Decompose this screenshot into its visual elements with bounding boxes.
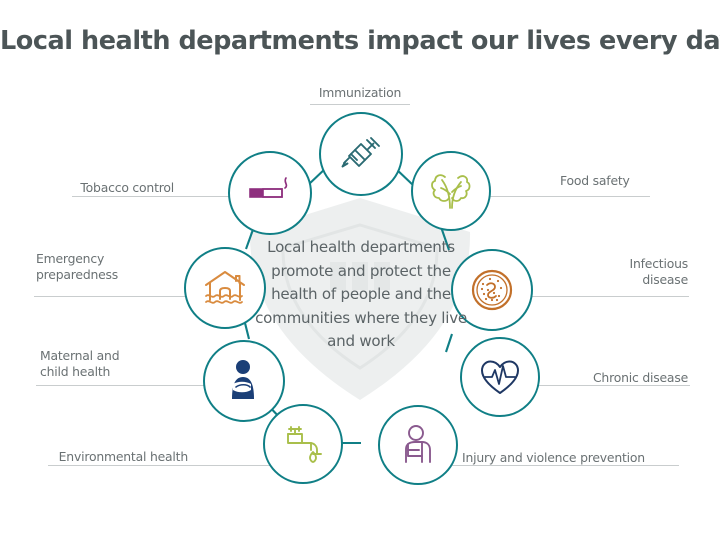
flooded-house-icon (201, 264, 249, 312)
label-maternal-and-child-health: Maternal and child health (40, 348, 190, 380)
node-injury-and-violence-prevention[interactable] (378, 405, 458, 485)
center-statement: Local health departments promote and pro… (248, 236, 474, 354)
leader-line-food-safety (472, 196, 650, 197)
node-food-safety[interactable] (411, 151, 491, 231)
node-tobacco-control[interactable] (228, 151, 312, 235)
mother-and-baby-icon (220, 357, 268, 405)
label-immunization: Immunization (290, 85, 430, 101)
leader-line-maternal-child-health (36, 385, 208, 386)
node-environmental-health[interactable] (263, 404, 343, 484)
cigarette-icon (245, 168, 295, 218)
label-environmental-health: Environmental health (40, 449, 188, 465)
leader-line-tobacco-control (72, 196, 242, 197)
center-line-2: promote and protect the (248, 260, 474, 284)
syringe-icon (337, 130, 385, 178)
faucet-drip-icon (280, 421, 326, 467)
petri-dish-icon (468, 266, 516, 314)
label-chronic-disease: Chronic disease (540, 370, 688, 386)
leader-line-immunization (310, 104, 410, 105)
label-food-safety: Food safety (560, 173, 710, 189)
leader-line-infectious-disease (527, 296, 689, 297)
center-line-3: health of people and the (248, 283, 474, 307)
center-line-4: communities where they live (248, 307, 474, 331)
leader-line-environmental-health (48, 465, 286, 466)
leafy-greens-icon (428, 168, 474, 214)
circle-ring-diagram: Immunization Food safety Infectious dise… (0, 0, 720, 556)
leader-line-emergency-preparedness (34, 296, 196, 297)
label-injury-and-violence-prevention: Injury and violence prevention (462, 450, 692, 466)
label-emergency-preparedness: Emergency preparedness (36, 251, 186, 283)
center-line-5: and work (248, 330, 474, 354)
label-tobacco-control: Tobacco control (62, 180, 174, 196)
heart-ekg-icon (477, 354, 523, 400)
node-immunization[interactable] (319, 112, 403, 196)
infographic-canvas: Local health departments impact our live… (0, 0, 720, 556)
arm-sling-icon (395, 422, 441, 468)
center-line-1: Local health departments (248, 236, 474, 260)
label-infectious-disease: Infectious disease (560, 256, 688, 288)
